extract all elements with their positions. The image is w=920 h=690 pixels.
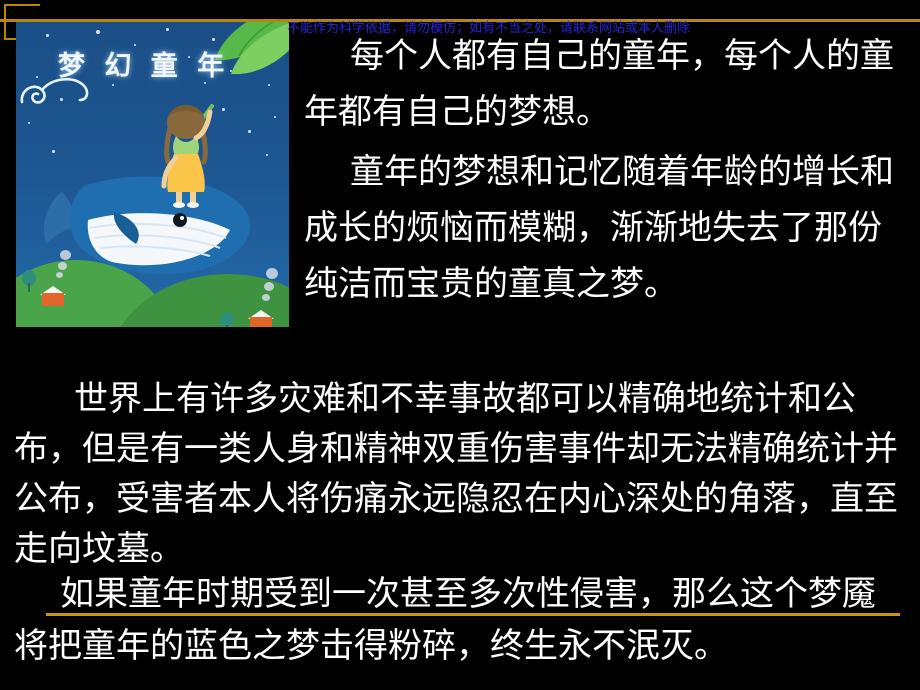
smoke-puff-icon <box>264 282 274 291</box>
house-icon <box>40 284 66 306</box>
star-icon <box>96 30 100 34</box>
body-paragraph-2: 童年的梦想和记忆随着年龄的增长和成长的烦恼而模糊，渐渐地失去了那份纯洁而宝贵的童… <box>304 144 904 312</box>
star-icon <box>248 130 251 133</box>
star-icon <box>28 122 30 124</box>
gold-left-edge <box>4 4 6 40</box>
smoke-puff-icon <box>56 272 63 278</box>
childhood-illustration: 梦 幻 童 年 <box>16 22 289 327</box>
body-paragraph-1: 每个人都有自己的童年，每个人的童年都有自己的梦想。 <box>304 28 904 140</box>
body-paragraph-4: 如果童年时期受到一次甚至多次性侵害，那么这个梦魇将把童年的蓝色之梦击得粉碎，终生… <box>14 568 908 672</box>
star-icon <box>266 154 268 156</box>
star-icon <box>166 28 169 31</box>
body-paragraph-3: 世界上有许多灾难和不幸事故都可以精确地统计和公布，但是有一类人身和精神双重伤害事… <box>14 374 908 574</box>
star-icon <box>52 150 55 153</box>
presentation-slide: 梦 幻 童 年 不能作为科学依据，请勿模仿；如有不当之处，请联系网站或本人删除 … <box>0 0 920 690</box>
child-illustration <box>150 100 222 208</box>
tree-icon <box>22 270 36 292</box>
smoke-puff-icon <box>266 268 278 279</box>
smoke-puff-icon <box>58 262 67 270</box>
star-icon <box>46 34 49 37</box>
house-icon <box>248 308 274 327</box>
tree-icon <box>220 312 234 327</box>
smoke-puff-icon <box>262 294 270 301</box>
illustration-title: 梦 幻 童 年 <box>58 44 229 83</box>
star-icon <box>112 84 114 86</box>
smoke-puff-icon <box>60 250 71 260</box>
